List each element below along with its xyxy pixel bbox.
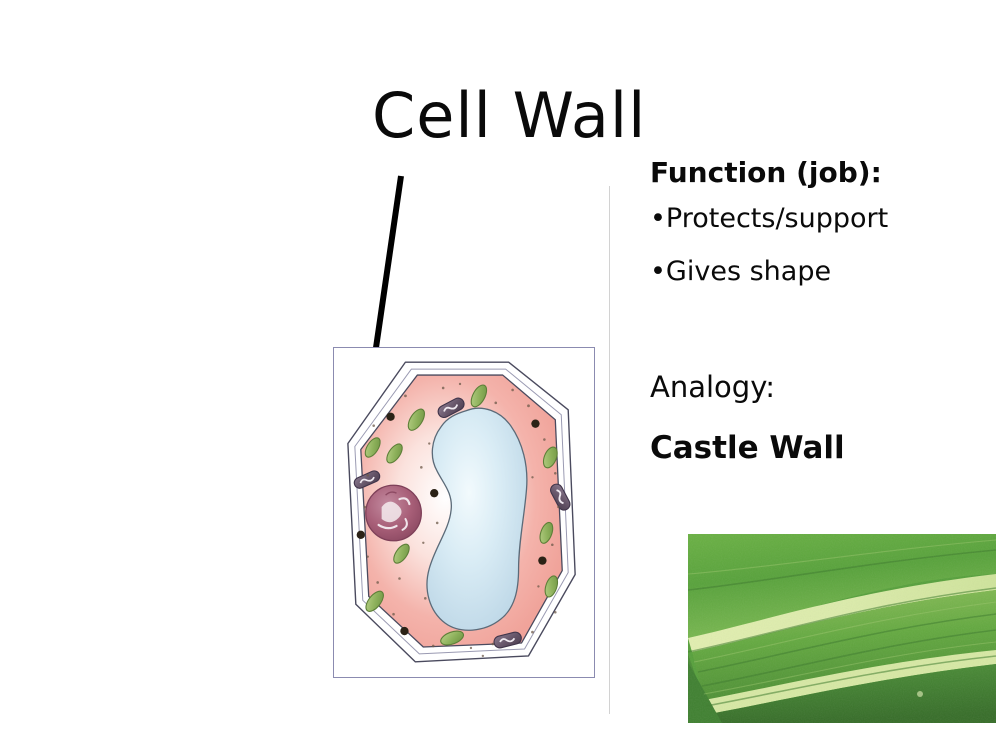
plant-cell-illustration (334, 348, 594, 677)
cell-diagram-frame (333, 347, 595, 678)
leaf-photo-graphic (688, 534, 996, 723)
nucleus-illustration (366, 485, 422, 541)
leaf-photograph (688, 534, 996, 723)
function-heading: Function (job): (650, 156, 882, 189)
page-title: Cell Wall (372, 85, 646, 147)
column-divider (609, 186, 610, 714)
analogy-heading: Analogy: (650, 370, 775, 404)
function-bullet-protects: •Protects/support (650, 203, 888, 234)
function-bullet-shape: •Gives shape (650, 256, 831, 287)
analogy-value: Castle Wall (650, 430, 845, 466)
slide-canvas: Cell Wall (0, 0, 1000, 750)
